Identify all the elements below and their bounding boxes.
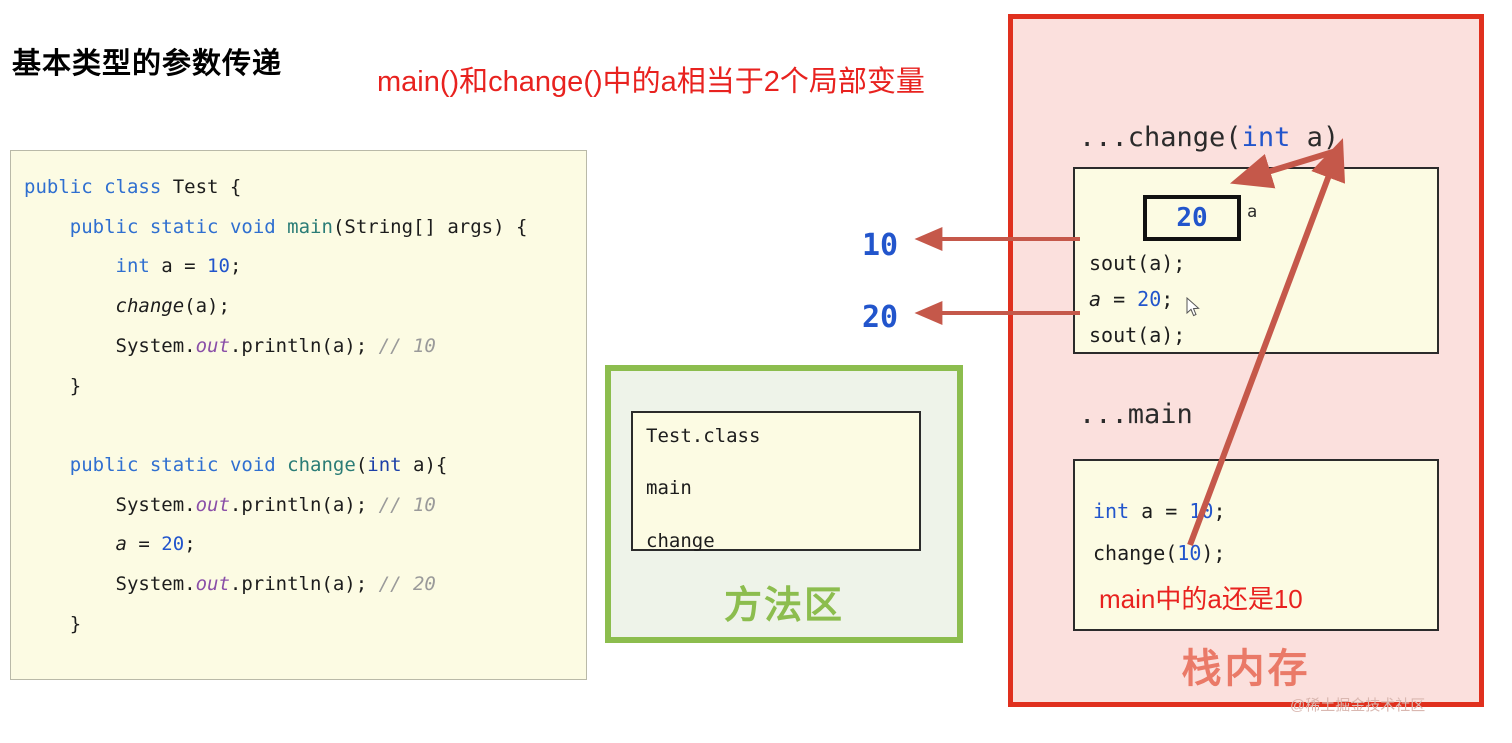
page-title: 基本类型的参数传递	[12, 40, 282, 82]
code-line: }	[24, 367, 527, 407]
code-line	[24, 406, 527, 446]
variable-label-a: a	[1247, 202, 1257, 222]
code-line	[24, 644, 527, 680]
main-frame-annotation: main中的a还是10	[1099, 579, 1303, 616]
code-line: int a = 10;	[24, 247, 527, 287]
code-line: }	[24, 605, 527, 645]
stack-frame-change-line-0: sout(a);	[1089, 251, 1185, 275]
mouse-cursor-icon	[1186, 297, 1200, 317]
stack-frame-header-main: ...main	[1079, 399, 1193, 430]
stack-frame-main-line-1: change(10);	[1093, 541, 1225, 565]
stack-frame-change: 20 a sout(a); a = 20; sout(a);	[1073, 167, 1439, 354]
code-line: a = 20;	[24, 525, 527, 565]
code-line: System.out.println(a); // 10	[24, 327, 527, 367]
code-line: public static void change(int a){	[24, 446, 527, 486]
method-area-label: 方法区	[611, 574, 957, 629]
code-line: System.out.println(a); // 10	[24, 486, 527, 526]
stack-frame-main-line-0: int a = 10;	[1093, 499, 1225, 523]
stack-frame-change-line-2: sout(a);	[1089, 323, 1185, 347]
code-line: change(a);	[24, 287, 527, 327]
headline-annotation: main()和change()中的a相当于2个局部变量	[377, 58, 925, 100]
method-area-entry-change: change	[646, 530, 715, 552]
method-area-entry-main: main	[646, 477, 692, 499]
stack-frame-main: int a = 10; change(10); main中的a还是10	[1073, 459, 1439, 631]
watermark: @稀土掘金技术社区	[1290, 694, 1425, 715]
variable-box-a: 20	[1143, 195, 1241, 241]
method-area-class-box: Test.class main change	[631, 411, 921, 551]
output-value-first: 10	[862, 228, 898, 263]
method-area-panel: Test.class main change 方法区	[605, 365, 963, 643]
code-panel: public class Test { public static void m…	[10, 150, 587, 680]
code-line: public static void main(String[] args) {	[24, 208, 527, 248]
stack-frame-header-change: ...change(int a)	[1079, 122, 1339, 153]
stack-frame-change-line-1: a = 20;	[1089, 287, 1173, 311]
method-area-entry-class: Test.class	[646, 425, 760, 447]
stack-memory-panel: ...change(int a) 20 a sout(a); a = 20; s…	[1008, 14, 1484, 707]
slide-canvas: 基本类型的参数传递 main()和change()中的a相当于2个局部变量 pu…	[0, 0, 1512, 743]
code-line: System.out.println(a); // 20	[24, 565, 527, 605]
stack-memory-label: 栈内存	[1013, 636, 1479, 694]
output-value-second: 20	[862, 300, 898, 335]
code-listing: public class Test { public static void m…	[24, 168, 527, 680]
code-line: public class Test {	[24, 168, 527, 208]
